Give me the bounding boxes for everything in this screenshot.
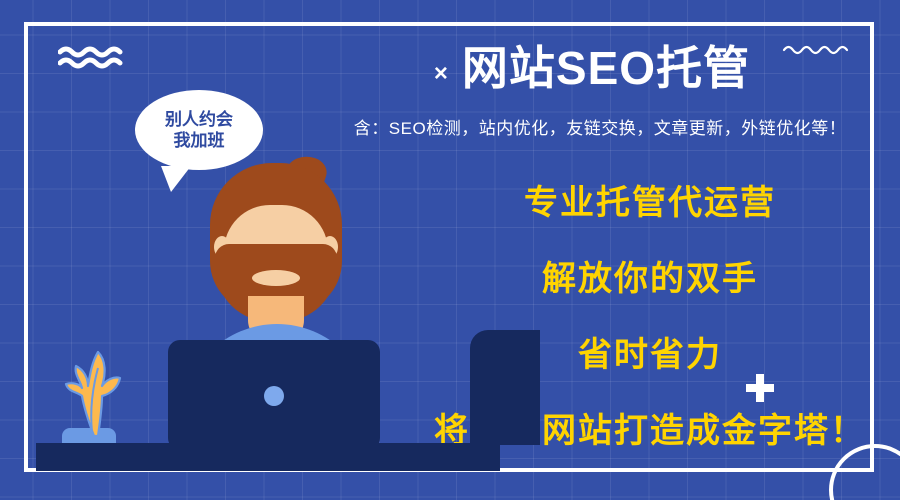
circle-outline-icon: [829, 444, 900, 500]
speech-bubble: 别人约会 我加班: [135, 90, 263, 170]
illustration-man-at-laptop: [0, 0, 520, 500]
laptop-logo-dot: [264, 386, 284, 406]
desk-side-block: [470, 330, 540, 445]
person-mouth: [252, 270, 300, 286]
speech-bubble-line-2: 我加班: [174, 130, 225, 151]
speech-bubble-line-1: 别人约会: [165, 109, 233, 130]
speech-bubble-tail: [161, 166, 191, 192]
desk-surface: [36, 443, 500, 471]
plant-leaf-icon: [58, 346, 128, 438]
seo-hosting-banner: 别人约会 我加班 × 网站SEO托管 含：SEO检测，站内优化，友链交换，文章更…: [0, 0, 900, 500]
